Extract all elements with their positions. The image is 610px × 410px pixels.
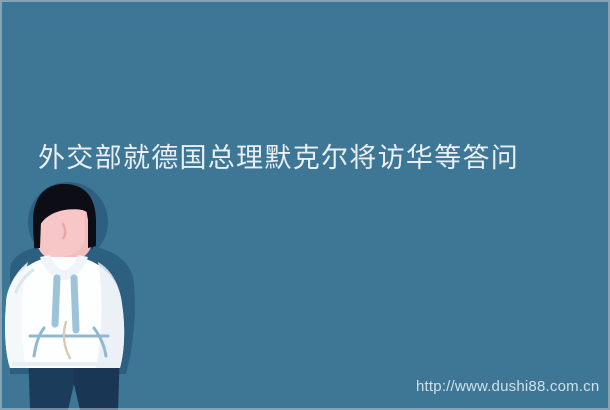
head <box>33 184 96 262</box>
drawstring-left <box>55 278 57 324</box>
drawstring-right <box>74 278 76 330</box>
hoodie <box>5 255 124 368</box>
watermark-url: http://www.dushi88.com.cn <box>416 378 599 396</box>
page-title: 外交部就德国总理默克尔将访华等答问 <box>38 141 588 175</box>
illustration-person-in-white-hoodie <box>0 178 200 410</box>
image-canvas: 外交部就德国总理默克尔将访华等答问 http://www.dushi88.com… <box>0 0 610 410</box>
person-illustration-svg <box>0 178 200 410</box>
